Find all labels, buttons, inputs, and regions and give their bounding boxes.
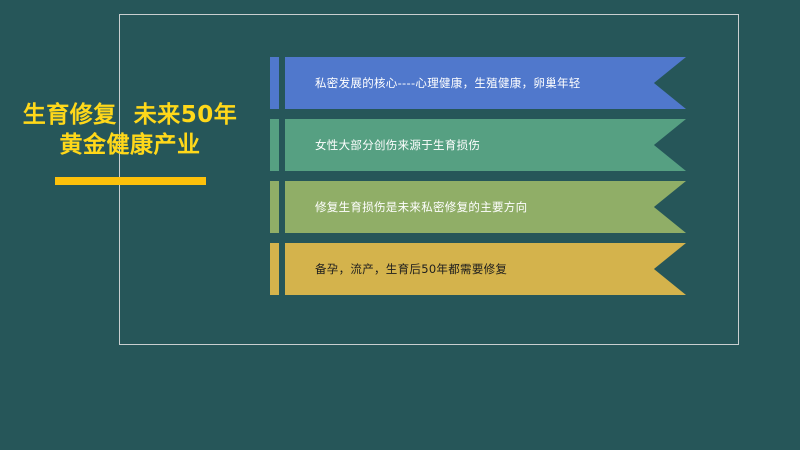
ribbon-accent-tab [270, 57, 279, 109]
page-title: 生育修复 未来50年黄金健康产业 [18, 100, 242, 161]
ribbon-list: 私密发展的核心----心理健康，生殖健康，卵巢年轻 女性大部分创伤来源于生育损伤… [270, 57, 686, 305]
ribbon-spacer [279, 243, 285, 295]
ribbon-body[interactable]: 私密发展的核心----心理健康，生殖健康，卵巢年轻 [285, 57, 686, 109]
slide-canvas: 生育修复 未来50年黄金健康产业 私密发展的核心----心理健康，生殖健康，卵巢… [0, 0, 800, 450]
ribbon-body[interactable]: 备孕，流产，生育后50年都需要修复 [285, 243, 686, 295]
ribbon-item[interactable]: 备孕，流产，生育后50年都需要修复 [270, 243, 686, 295]
title-block: 生育修复 未来50年黄金健康产业 [18, 100, 242, 185]
ribbon-label: 私密发展的核心----心理健康，生殖健康，卵巢年轻 [285, 76, 621, 91]
ribbon-accent-tab [270, 243, 279, 295]
title-underline-bar [55, 177, 206, 185]
ribbon-spacer [279, 181, 285, 233]
ribbon-label: 备孕，流产，生育后50年都需要修复 [285, 262, 547, 277]
ribbon-spacer [279, 119, 285, 171]
ribbon-label: 修复生育损伤是未来私密修复的主要方向 [285, 200, 567, 215]
ribbon-item[interactable]: 私密发展的核心----心理健康，生殖健康，卵巢年轻 [270, 57, 686, 109]
ribbon-accent-tab [270, 119, 279, 171]
ribbon-spacer [279, 57, 285, 109]
ribbon-body[interactable]: 修复生育损伤是未来私密修复的主要方向 [285, 181, 686, 233]
ribbon-item[interactable]: 女性大部分创伤来源于生育损伤 [270, 119, 686, 171]
ribbon-item[interactable]: 修复生育损伤是未来私密修复的主要方向 [270, 181, 686, 233]
ribbon-body[interactable]: 女性大部分创伤来源于生育损伤 [285, 119, 686, 171]
ribbon-accent-tab [270, 181, 279, 233]
ribbon-label: 女性大部分创伤来源于生育损伤 [285, 138, 520, 153]
